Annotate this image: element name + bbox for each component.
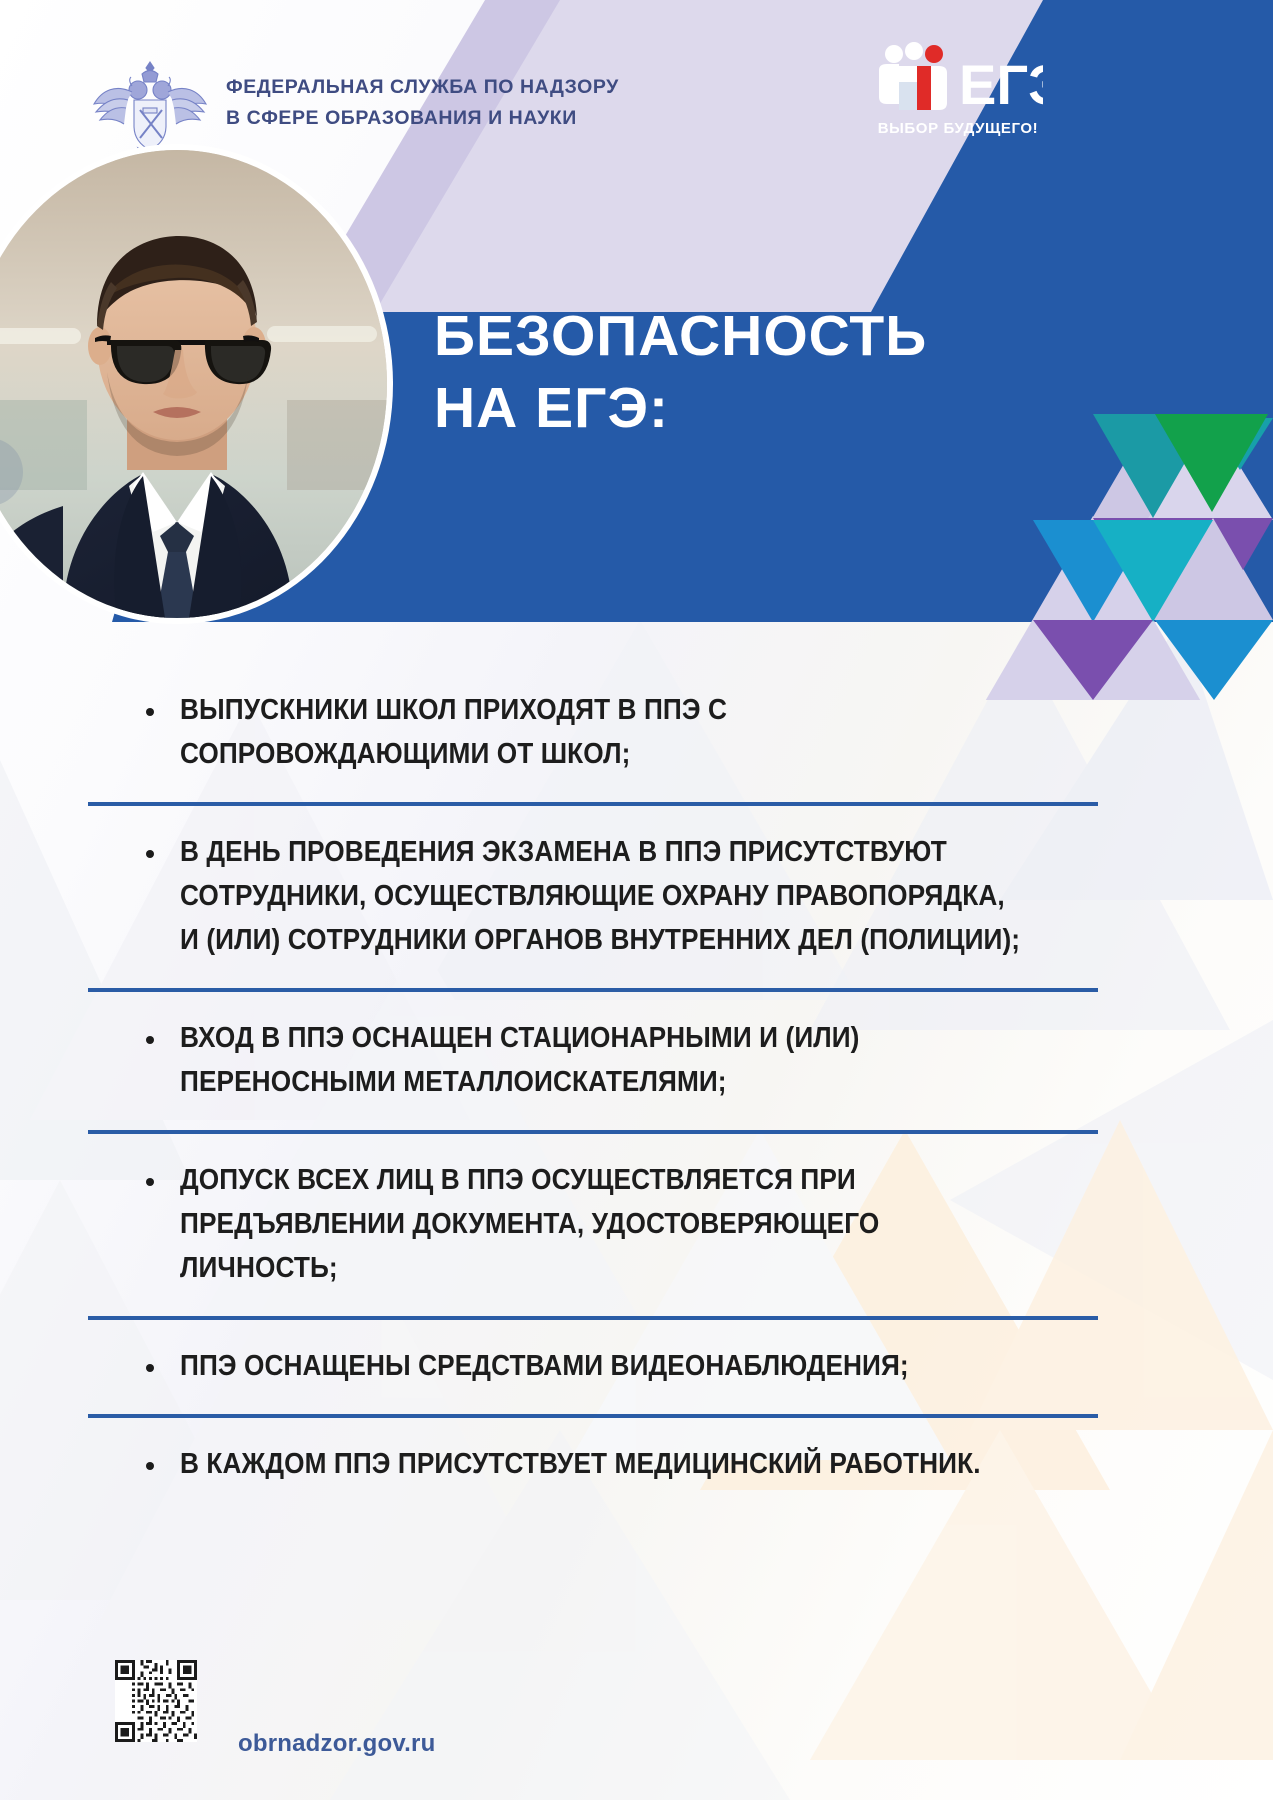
bullet-dot-icon — [146, 850, 154, 858]
ministry-line-2: В СФЕРЕ ОБРАЗОВАНИЯ И НАУКИ — [226, 103, 619, 134]
list-item-text: ДОПУСК ВСЕХ ЛИЦ В ППЭ ОСУЩЕСТВЛЯЕТСЯ ПРИ… — [180, 1158, 1025, 1290]
list-item: ВХОД В ППЭ ОСНАЩЕН СТАЦИОНАРНЫМИ И (ИЛИ)… — [88, 988, 1098, 1130]
ege-logo: ЕГЭ ВЫБОР БУДУЩЕГО! — [873, 42, 1043, 147]
qr-code-icon[interactable] — [115, 1660, 197, 1742]
list-item: ДОПУСК ВСЕХ ЛИЦ В ППЭ ОСУЩЕСТВЛЯЕТСЯ ПРИ… — [88, 1130, 1098, 1316]
poster-header: ФЕДЕРАЛЬНАЯ СЛУЖБА ПО НАДЗОРУ В СФЕРЕ ОБ… — [0, 0, 1273, 620]
list-item: В ДЕНЬ ПРОВЕДЕНИЯ ЭКЗАМЕНА В ППЭ ПРИСУТС… — [88, 802, 1098, 988]
list-item-text: В ДЕНЬ ПРОВЕДЕНИЯ ЭКЗАМЕНА В ППЭ ПРИСУТС… — [180, 830, 1025, 962]
ege-logo-icon: ЕГЭ — [873, 42, 1043, 116]
bullet-dot-icon — [146, 1462, 154, 1470]
website-url[interactable]: obrnadzor.gov.ru — [238, 1730, 435, 1758]
poster-footer: obrnadzor.gov.ru — [88, 1660, 688, 1770]
list-item-text: ППЭ ОСНАЩЕНЫ СРЕДСТВАМИ ВИДЕОНАБЛЮДЕНИЯ; — [180, 1344, 1025, 1388]
security-rules-list: ВЫПУСКНИКИ ШКОЛ ПРИХОДЯТ В ППЭ С СОПРОВО… — [88, 664, 1098, 1512]
poster-root: ФЕДЕРАЛЬНАЯ СЛУЖБА ПО НАДЗОРУ В СФЕРЕ ОБ… — [0, 0, 1273, 1800]
bullet-dot-icon — [146, 1364, 154, 1372]
page-title: БЕЗОПАСНОСТЬ НА ЕГЭ: — [434, 300, 927, 444]
list-item: В КАЖДОМ ППЭ ПРИСУТСТВУЕТ МЕДИЦИНСКИЙ РА… — [88, 1414, 1098, 1512]
list-item-text: ВХОД В ППЭ ОСНАЩЕН СТАЦИОНАРНЫМИ И (ИЛИ)… — [180, 1016, 1025, 1104]
list-item-text: ВЫПУСКНИКИ ШКОЛ ПРИХОДЯТ В ППЭ С СОПРОВО… — [180, 688, 1025, 776]
ege-slogan: ВЫБОР БУДУЩЕГО! — [873, 120, 1043, 137]
ministry-name: ФЕДЕРАЛЬНАЯ СЛУЖБА ПО НАДЗОРУ В СФЕРЕ ОБ… — [226, 72, 619, 134]
list-item: ППЭ ОСНАЩЕНЫ СРЕДСТВАМИ ВИДЕОНАБЛЮДЕНИЯ; — [88, 1316, 1098, 1414]
bullet-dot-icon — [146, 708, 154, 716]
bullet-dot-icon — [146, 1036, 154, 1044]
ministry-line-1: ФЕДЕРАЛЬНАЯ СЛУЖБА ПО НАДЗОРУ — [226, 72, 619, 103]
list-item-text: В КАЖДОМ ППЭ ПРИСУТСТВУЕТ МЕДИЦИНСКИЙ РА… — [180, 1442, 1025, 1486]
bullet-dot-icon — [146, 1178, 154, 1186]
list-item: ВЫПУСКНИКИ ШКОЛ ПРИХОДЯТ В ППЭ С СОПРОВО… — [88, 664, 1098, 802]
svg-text:ЕГЭ: ЕГЭ — [959, 53, 1043, 116]
